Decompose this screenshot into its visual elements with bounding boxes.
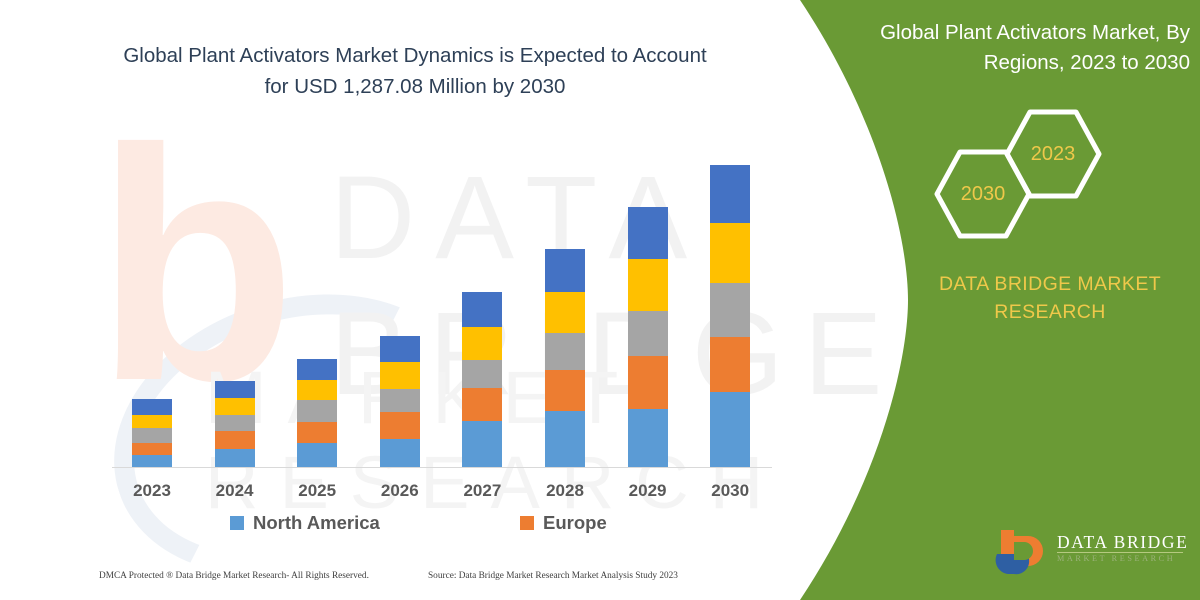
footer-copyright: DMCA Protected ® Data Bridge Market Rese… (99, 571, 369, 581)
hexagon-label-end: 2030 (933, 148, 1033, 240)
brand-name: DATA BRIDGE MARKET RESEARCH (900, 270, 1200, 326)
hexagon-badges: 2023 2030 (925, 108, 1105, 233)
logo-tagline: MARKET RESEARCH (1057, 554, 1175, 563)
data-bridge-mark-icon (995, 528, 1053, 578)
infographic-canvas: b DATA BRIDGE MARKET RESEARCH 2023202420… (0, 0, 1200, 600)
logo-rule (1057, 552, 1183, 553)
hexagon-badge-2030[interactable]: 2030 (933, 148, 1033, 240)
panel-title: Global Plant Activators Market, By Regio… (855, 18, 1190, 78)
footer-source: Source: Data Bridge Market Research Mark… (428, 571, 678, 581)
company-logo[interactable]: DATA BRIDGE MARKET RESEARCH (995, 528, 1190, 580)
logo-wordmark: DATA BRIDGE (1057, 532, 1188, 553)
